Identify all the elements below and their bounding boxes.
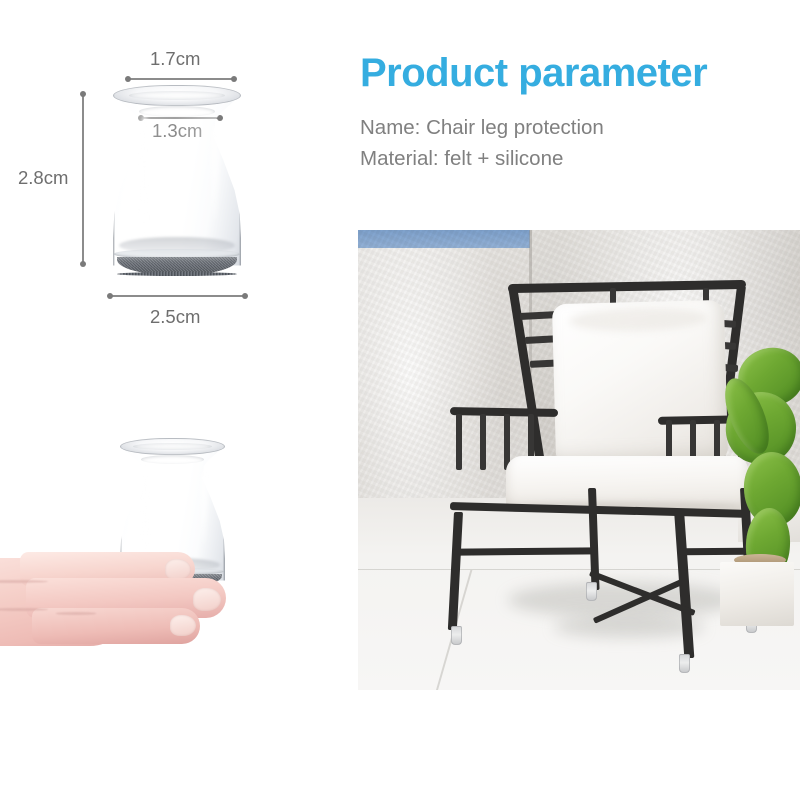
dimension-dot-height-top [80, 91, 86, 97]
chair-arm-spindle [456, 414, 462, 470]
chair-leg-protector-cap [586, 582, 597, 601]
product-infographic: 1.7cm 1.3cm 2.8cm 2.5cm [0, 0, 800, 800]
dimension-dot-base-right [242, 293, 248, 299]
dimension-line-top-width [128, 78, 234, 80]
dimension-line-base-width [110, 295, 245, 297]
fingernail [193, 588, 221, 611]
fingernail [165, 559, 191, 580]
cap-neck-shading [141, 455, 204, 464]
chair-arm-spindle [480, 414, 486, 470]
knuckle-crease [56, 612, 96, 615]
product-silicone-cap-diagram [113, 85, 241, 275]
chair-leg-front-left [448, 512, 463, 630]
dimension-label-top-width: 1.7cm [150, 48, 200, 70]
cap-highlight-left [139, 115, 151, 233]
cap-felt-pad-edge [117, 272, 237, 276]
chair-leg-protector-cap [451, 626, 462, 645]
chair-back-cushion [552, 300, 728, 464]
scale-photo [0, 430, 300, 700]
spec-material: Material: felt + silicone [360, 143, 798, 174]
dimension-label-base-width: 2.5cm [150, 306, 200, 328]
page-title: Product parameter [360, 52, 798, 94]
chair-back-top-rail [508, 280, 746, 293]
chair-leg-protector-cap [679, 654, 690, 673]
lifestyle-photo [358, 230, 800, 690]
dimension-dot-base-left [107, 293, 113, 299]
product-parameter-panel: Product parameter Name: Chair leg protec… [360, 52, 798, 174]
cactus-planter [720, 562, 794, 626]
cap-highlight-right [200, 468, 207, 546]
dimension-label-height: 2.8cm [18, 167, 68, 189]
cap-rim [113, 85, 241, 106]
chair-side-stretcher [458, 547, 598, 555]
cap-rim [120, 438, 225, 455]
dimension-line-height [82, 94, 84, 264]
dimension-diagram: 1.7cm 1.3cm 2.8cm 2.5cm [0, 30, 340, 340]
hand [0, 550, 250, 655]
dimension-dot-top-left [125, 76, 131, 82]
dimension-dot-top-right [231, 76, 237, 82]
dimension-dot-height-bottom [80, 261, 86, 267]
spec-name: Name: Chair leg protection [360, 112, 798, 143]
fingernail [170, 615, 196, 636]
cactus-plant [708, 348, 800, 618]
